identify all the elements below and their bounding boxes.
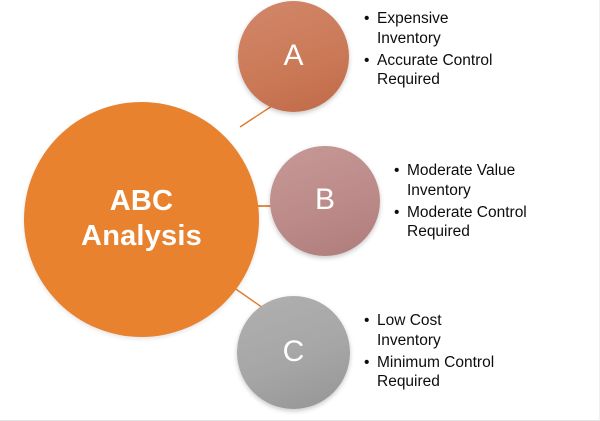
- category-c-bullet-list: • Low Cost Inventory • Minimum Control R…: [363, 311, 563, 392]
- category-node-a[interactable]: A: [238, 1, 349, 112]
- category-node-b[interactable]: B: [270, 146, 380, 256]
- list-item: • Moderate Control Required: [393, 203, 593, 243]
- center-node-label-line2: Analysis: [81, 220, 202, 252]
- category-b-bullet-list: • Moderate Value Inventory • Moderate Co…: [393, 161, 593, 242]
- category-node-c[interactable]: C: [237, 296, 350, 409]
- bullet-text-line2: Required: [377, 70, 563, 90]
- list-item: • Moderate Value Inventory: [393, 161, 593, 201]
- list-item: • Accurate Control Required: [363, 51, 563, 91]
- category-node-a-glyph: A: [283, 39, 303, 73]
- bullet-text-line2: Inventory: [377, 29, 563, 49]
- bullet-text-line1: Moderate Value: [407, 161, 593, 181]
- category-node-b-glyph: B: [315, 183, 335, 217]
- bullet-icon: •: [394, 203, 399, 223]
- center-node-label: ABC Analysis: [81, 184, 202, 256]
- bullet-icon: •: [394, 161, 399, 181]
- bullet-icon: •: [364, 9, 369, 29]
- center-node-abc-analysis[interactable]: ABC Analysis: [24, 102, 259, 337]
- list-item: • Minimum Control Required: [363, 353, 563, 393]
- bullet-text-line2: Inventory: [377, 331, 563, 351]
- bullet-icon: •: [364, 353, 369, 373]
- bullet-text-line1: Moderate Control: [407, 203, 593, 223]
- bullet-text-line2: Inventory: [407, 181, 593, 201]
- category-a-description: • Expensive Inventory • Accurate Control…: [363, 9, 563, 92]
- category-b-description: • Moderate Value Inventory • Moderate Co…: [393, 161, 593, 244]
- bullet-text-line1: Accurate Control: [377, 51, 563, 71]
- bullet-text-line1: Low Cost: [377, 311, 563, 331]
- bullet-icon: •: [364, 311, 369, 331]
- list-item: • Low Cost Inventory: [363, 311, 563, 351]
- bullet-text-line2: Required: [377, 372, 563, 392]
- bullet-text-line1: Expensive: [377, 9, 563, 29]
- center-node-label-line1: ABC: [110, 185, 173, 217]
- category-node-c-glyph: C: [283, 335, 305, 369]
- bullet-icon: •: [364, 51, 369, 71]
- category-c-description: • Low Cost Inventory • Minimum Control R…: [363, 311, 563, 394]
- connector-center-to-a: [240, 104, 275, 127]
- abc-analysis-diagram: ABC Analysis A B C • Expensive Inventory…: [0, 0, 600, 421]
- list-item: • Expensive Inventory: [363, 9, 563, 49]
- category-a-bullet-list: • Expensive Inventory • Accurate Control…: [363, 9, 563, 90]
- bullet-text-line1: Minimum Control: [377, 353, 563, 373]
- bullet-text-line2: Required: [407, 222, 593, 242]
